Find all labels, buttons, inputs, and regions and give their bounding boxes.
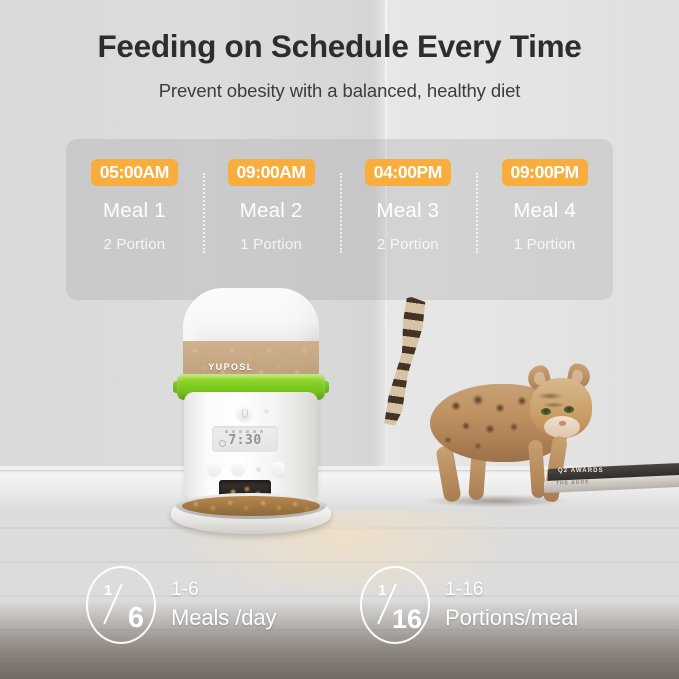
schedule-card-2: 09:00AM Meal 2 1 Portion [203, 139, 340, 300]
time-badge: 04:00PM [365, 159, 451, 186]
feature-range: 1-16 [445, 579, 578, 601]
time-badge: 09:00AM [228, 159, 315, 186]
cat-tail [373, 294, 433, 428]
schedule-card-3: 04:00PM Meal 3 2 Portion [340, 139, 477, 300]
schedule-card-4: 09:00PM Meal 4 1 Portion [476, 139, 613, 300]
meal-label: Meal 3 [377, 199, 440, 223]
book-stack: Q2 AWARDS THE EDGE [540, 466, 679, 494]
time-badge: 09:00PM [502, 159, 588, 186]
automatic-pet-feeder: YUPOSL 7:30 [163, 288, 338, 533]
feeding-schedule-panel: 05:00AM Meal 1 2 Portion 09:00AM Meal 2 … [66, 139, 613, 300]
power-button[interactable] [236, 405, 252, 421]
cat-nose [559, 421, 566, 426]
fraction-denominator: 16 [392, 606, 422, 633]
indicator-dot-icon [256, 467, 261, 472]
lcd-time-value: 7:30 [212, 433, 278, 448]
lcd-display: 7:30 [212, 426, 278, 452]
cat-eye-right [564, 406, 574, 413]
fraction-denominator: 6 [128, 604, 144, 633]
meal-label: Meal 4 [513, 199, 576, 223]
schedule-card-1: 05:00AM Meal 1 2 Portion [66, 139, 203, 300]
cat-shadow [396, 492, 596, 510]
meal-label: Meal 2 [240, 199, 303, 223]
page-subtitle: Prevent obesity with a balanced, healthy… [0, 80, 679, 102]
portion-label: 2 Portion [103, 236, 165, 253]
fraction-circle-icon: 1 6 [86, 566, 156, 644]
control-button-row [207, 461, 285, 477]
portion-label: 1 Portion [514, 236, 576, 253]
portion-label: 2 Portion [377, 236, 439, 253]
time-badge: 05:00AM [91, 159, 178, 186]
feature-meals-per-day: 1 6 1-6 Meals /day [86, 566, 276, 644]
cat-eye-left [541, 408, 551, 415]
cat-muzzle [544, 416, 580, 438]
feature-range: 1-6 [171, 579, 276, 601]
setting-button[interactable] [207, 462, 221, 476]
plus-button[interactable] [271, 462, 285, 476]
portion-label: 1 Portion [240, 236, 302, 253]
bowl-kibble [182, 496, 320, 516]
feature-text: 1-16 Portions/meal [445, 579, 578, 631]
status-led-icon [264, 409, 269, 414]
fraction-circle-icon: 1 16 [360, 566, 430, 644]
feature-portions-per-meal: 1 16 1-16 Portions/meal [360, 566, 578, 644]
brand-logo: YUPOSL [163, 362, 299, 372]
book-top-title: Q2 AWARDS [558, 468, 604, 474]
fraction-graphic: 1 16 [362, 568, 428, 642]
fraction-numerator: 1 [378, 582, 386, 599]
fraction-graphic: 1 6 [88, 568, 154, 642]
feature-caption: Meals /day [171, 605, 276, 631]
page-title: Feeding on Schedule Every Time [0, 28, 679, 65]
fraction-numerator: 1 [104, 582, 112, 599]
product-feature-image: Feeding on Schedule Every Time Prevent o… [0, 0, 679, 679]
feature-caption: Portions/meal [445, 605, 578, 631]
feature-text: 1-6 Meals /day [171, 579, 276, 631]
minus-button[interactable] [231, 462, 245, 476]
meal-label: Meal 1 [103, 199, 166, 223]
